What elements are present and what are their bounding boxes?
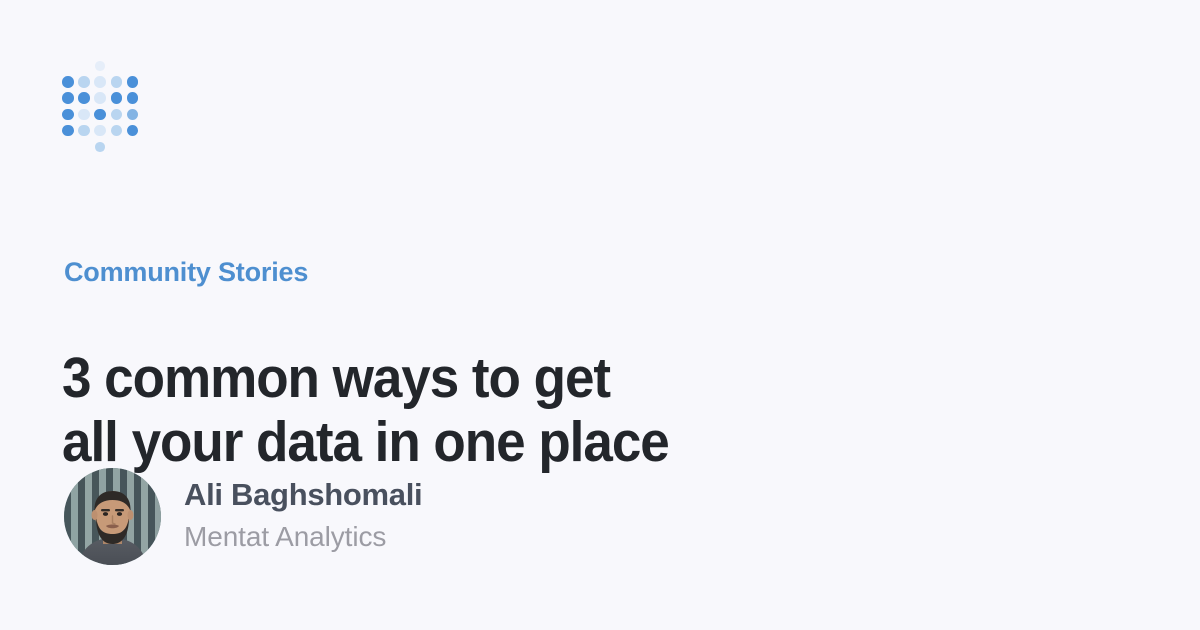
author-organization: Mentat Analytics — [184, 519, 422, 555]
headline-line-2: all your data in one place — [62, 411, 806, 475]
logo-dot — [111, 125, 123, 137]
page-title: 3 common ways to get all your data in on… — [62, 347, 806, 475]
logo-dot — [94, 92, 106, 104]
brand-logo[interactable] — [62, 60, 136, 144]
logo-dot — [62, 125, 74, 137]
logo-dot — [78, 92, 90, 104]
headline-line-1: 3 common ways to get — [62, 347, 806, 411]
category-eyebrow[interactable]: Community Stories — [64, 256, 308, 288]
logo-dot — [62, 92, 74, 104]
logo-dot — [127, 109, 139, 121]
logo-dot — [94, 125, 106, 137]
logo-dot — [78, 109, 90, 121]
dot-matrix-logo-icon — [62, 60, 136, 144]
logo-dot — [111, 76, 123, 88]
logo-dot — [111, 109, 123, 121]
logo-dot — [78, 76, 90, 88]
logo-dot — [127, 92, 139, 104]
avatar — [64, 468, 161, 565]
author-block: Ali Baghshomali Mentat Analytics — [64, 468, 422, 565]
logo-dot — [62, 76, 74, 88]
logo-dot — [127, 125, 139, 137]
author-details: Ali Baghshomali Mentat Analytics — [184, 475, 422, 557]
logo-dot — [95, 142, 105, 152]
logo-dot — [78, 125, 90, 137]
author-name[interactable]: Ali Baghshomali — [184, 475, 422, 515]
logo-dot — [127, 76, 139, 88]
logo-dot — [111, 92, 123, 104]
logo-dot — [95, 61, 105, 71]
logo-dot — [94, 76, 106, 88]
avatar-photo — [64, 468, 161, 565]
social-share-card: Community Stories 3 common ways to get a… — [0, 0, 1200, 630]
logo-dot — [62, 109, 74, 121]
logo-dot — [94, 109, 106, 121]
